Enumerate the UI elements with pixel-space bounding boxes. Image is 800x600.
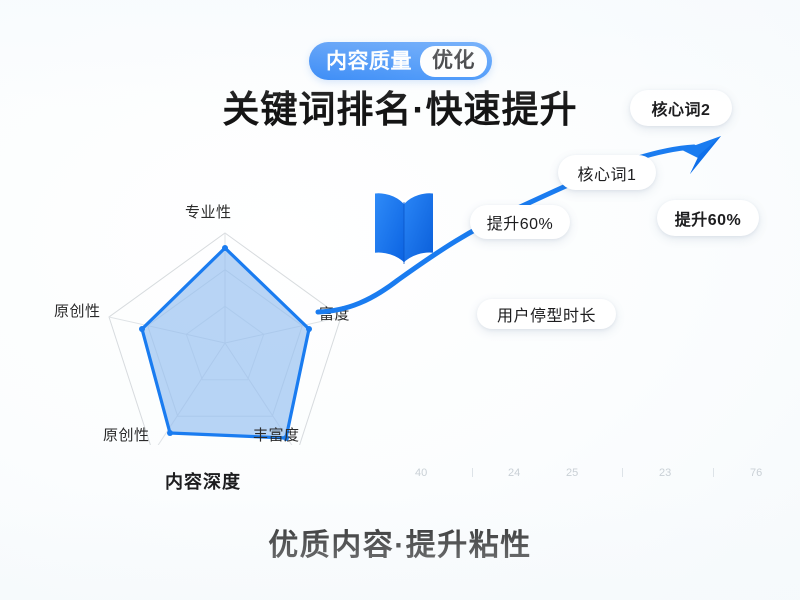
scale-tick (472, 468, 473, 477)
scale-value-1: 24 (508, 467, 520, 479)
pill-uplift-left[interactable]: 提升60% (470, 205, 570, 239)
scale-value-2: 25 (566, 467, 578, 479)
pill-keyword2[interactable]: 核心词2 (630, 90, 732, 126)
poster-canvas: 内容质量 优化 关键词排名·快速提升 专业性 原创性 (0, 0, 800, 600)
scale-tick (713, 468, 714, 477)
pill-dwell-time[interactable]: 用户停型时长 (477, 299, 616, 329)
scale-tick (622, 468, 623, 477)
scale-value-0: 40 (415, 467, 427, 479)
pill-uplift-right[interactable]: 提升60% (657, 200, 759, 236)
pill-keyword1[interactable]: 核心词1 (558, 155, 656, 190)
footer-title: 优质内容·提升粘性 (0, 520, 800, 564)
faint-axis-scale: 40 24 25 23 76 (410, 462, 790, 486)
scale-value-4: 76 (750, 467, 762, 479)
scale-value-3: 23 (659, 467, 671, 479)
